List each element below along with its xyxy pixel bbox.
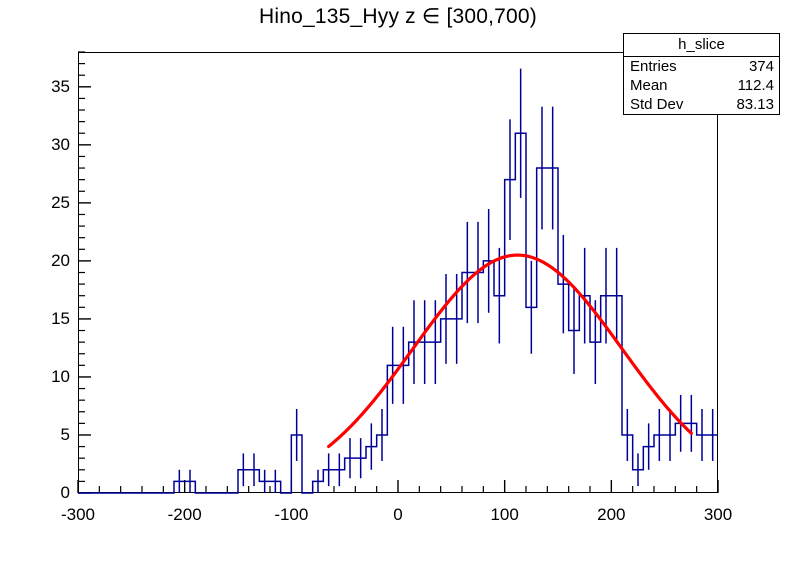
- stats-row-label: Mean: [630, 77, 668, 94]
- y-tick-label: 5: [10, 425, 70, 445]
- y-tick-label: 35: [10, 77, 70, 97]
- y-tick-label: 30: [10, 135, 70, 155]
- stats-row-value: 112.4: [738, 77, 774, 94]
- stats-row-label: Std Dev: [630, 96, 683, 113]
- y-tick-label: 15: [10, 309, 70, 329]
- x-tick-label: 0: [353, 505, 443, 525]
- stats-title: h_slice: [624, 34, 779, 57]
- stats-row-value: 83.13: [736, 96, 774, 113]
- x-tick-label: 200: [566, 505, 656, 525]
- y-tick-label: 10: [10, 367, 70, 387]
- gaussian-fit-curve: [329, 255, 692, 446]
- x-tick-label: 300: [673, 505, 763, 525]
- y-tick-label: 0: [10, 483, 70, 503]
- error-bars: [179, 69, 712, 493]
- root-canvas: Hino_135_Hyy z ∈ [300,700) 0510152025303…: [0, 0, 796, 572]
- x-tick-label: -200: [140, 505, 230, 525]
- y-tick-label: 25: [10, 193, 70, 213]
- stats-box[interactable]: h_slice Entries374Mean112.4Std Dev83.13: [623, 33, 780, 115]
- y-axis-ticks: [78, 52, 91, 493]
- x-tick-label: 100: [460, 505, 550, 525]
- stats-row-label: Entries: [630, 58, 677, 75]
- stats-row-value: 374: [749, 58, 774, 75]
- histogram-step-line: [78, 133, 718, 493]
- stats-rows: Entries374Mean112.4Std Dev83.13: [624, 57, 779, 114]
- x-tick-label: -300: [33, 505, 123, 525]
- x-tick-label: -100: [246, 505, 336, 525]
- y-tick-label: 20: [10, 251, 70, 271]
- stats-row: Std Dev83.13: [624, 95, 779, 114]
- stats-row: Entries374: [624, 57, 779, 76]
- stats-row: Mean112.4: [624, 76, 779, 95]
